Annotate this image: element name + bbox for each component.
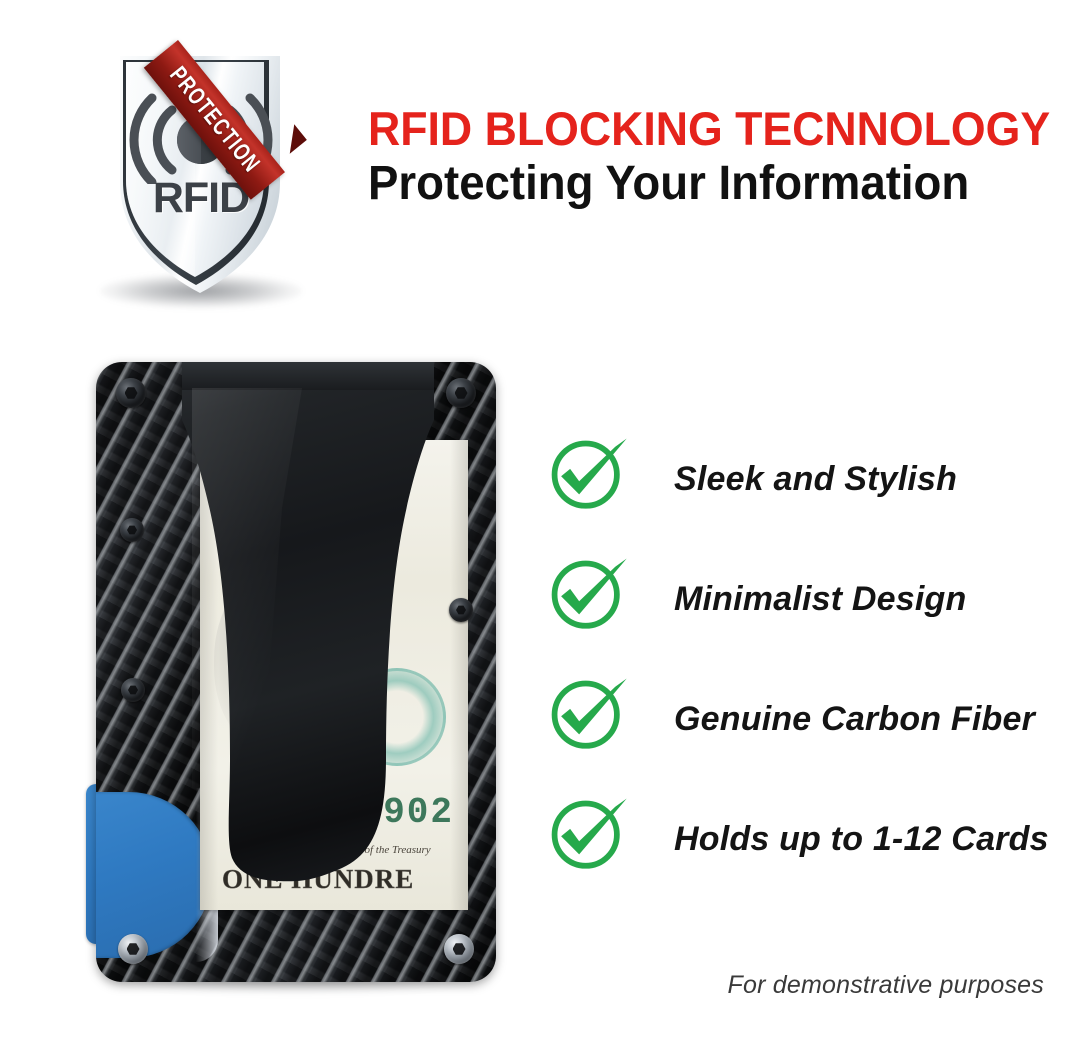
headline-primary: RFID BLOCKING TECNNOLOGY	[368, 104, 995, 154]
check-circle-icon	[548, 552, 630, 634]
money-clip-top-bar	[182, 362, 434, 390]
carbon-fiber-plate: 902 Secretary of the Treasury ONE HUNDRE	[96, 362, 496, 982]
feature-row: Minimalist Design	[548, 552, 1048, 672]
feature-row: Holds up to 1-12 Cards	[548, 792, 1048, 912]
check-circle-icon	[548, 792, 630, 874]
feature-label: Sleek and Stylish	[674, 460, 957, 499]
screw-bottom-right	[444, 934, 474, 964]
screw-bottom-left	[118, 934, 148, 964]
ribbon-tail	[277, 124, 307, 153]
headline-block: RFID BLOCKING TECNNOLOGY Protecting Your…	[368, 104, 1028, 211]
feature-label: Genuine Carbon Fiber	[674, 700, 1035, 739]
rfid-shield-badge: RFID PROTECTION	[96, 46, 306, 306]
thumb-notch-cutout	[96, 792, 212, 958]
disclaimer-text: For demonstrative purposes	[728, 971, 1044, 1000]
check-circle-icon	[548, 432, 630, 514]
screw-top-right	[446, 378, 476, 408]
screw-mid-left-upper	[120, 518, 144, 542]
screw-top-left	[116, 378, 146, 408]
feature-row: Sleek and Stylish	[548, 432, 1048, 552]
feature-label: Minimalist Design	[674, 580, 966, 619]
feature-label: Holds up to 1-12 Cards	[674, 820, 1049, 859]
shield-rfid-label: RFID	[96, 174, 306, 223]
feature-row: Genuine Carbon Fiber	[548, 672, 1048, 792]
check-circle-icon	[548, 672, 630, 754]
banknote-edge-right	[450, 440, 468, 910]
banknote-serial-number: 902	[383, 792, 454, 833]
headline-secondary: Protecting Your Information	[368, 158, 995, 211]
wallet-product-photo: 902 Secretary of the Treasury ONE HUNDRE	[84, 352, 504, 997]
screw-mid-right	[449, 598, 473, 622]
product-marketing-image: RFID PROTECTION RFID BLOCKING TECNNOLOGY…	[0, 0, 1080, 1052]
screw-mid-left-lower	[121, 678, 145, 702]
feature-list: Sleek and Stylish Minimalist Design Genu…	[548, 432, 1048, 912]
